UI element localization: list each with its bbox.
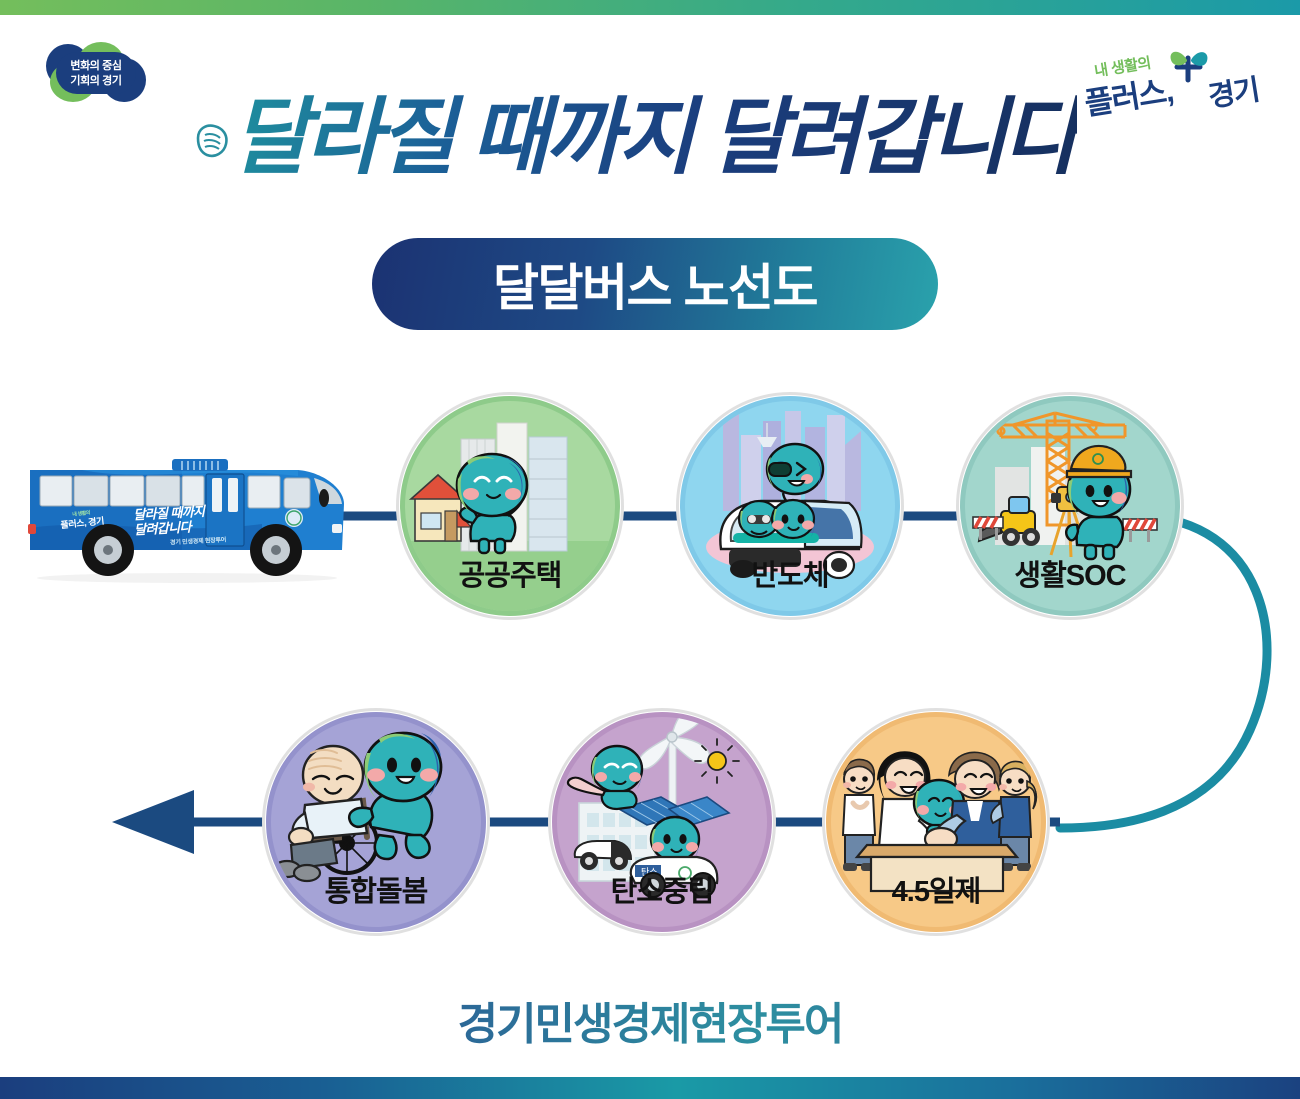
node-label-semiconductor: 반도체	[676, 552, 904, 594]
route-node-living-soc[interactable]: 생활SOC	[956, 392, 1184, 620]
bus-livery-line2: 달려갑니다	[134, 519, 192, 537]
route-node-carbon-neutral[interactable]: 탄소 탄소중립	[548, 708, 776, 936]
node-label-public-housing: 공공주택	[396, 552, 624, 594]
page-caption: 경기민생경제현장투어	[0, 988, 1300, 1052]
poster-root: 변화의 중심 기회의 경기 내 생활의 플러스, 경기 달라질 때까지 달려갑니…	[0, 0, 1300, 1099]
node-label-living-soc: 생활SOC	[956, 552, 1184, 594]
route-node-public-housing[interactable]: 공공주택	[396, 392, 624, 620]
route-node-work-week[interactable]: 4.5일제	[822, 708, 1050, 936]
dal-dal-bus-illustration: 달라질 때까지 달려갑니다 경기 민생경제 현장투어 내 생활의 플러스, 경기	[22, 432, 352, 592]
node-label-work-week: 4.5일제	[822, 868, 1050, 910]
route-node-integrated-care[interactable]: 통합돌봄	[262, 708, 490, 936]
route-node-semiconductor[interactable]: 반도체	[676, 392, 904, 620]
node-label-integrated-care: 통합돌봄	[262, 868, 490, 910]
node-label-carbon-neutral: 탄소중립	[548, 868, 776, 910]
